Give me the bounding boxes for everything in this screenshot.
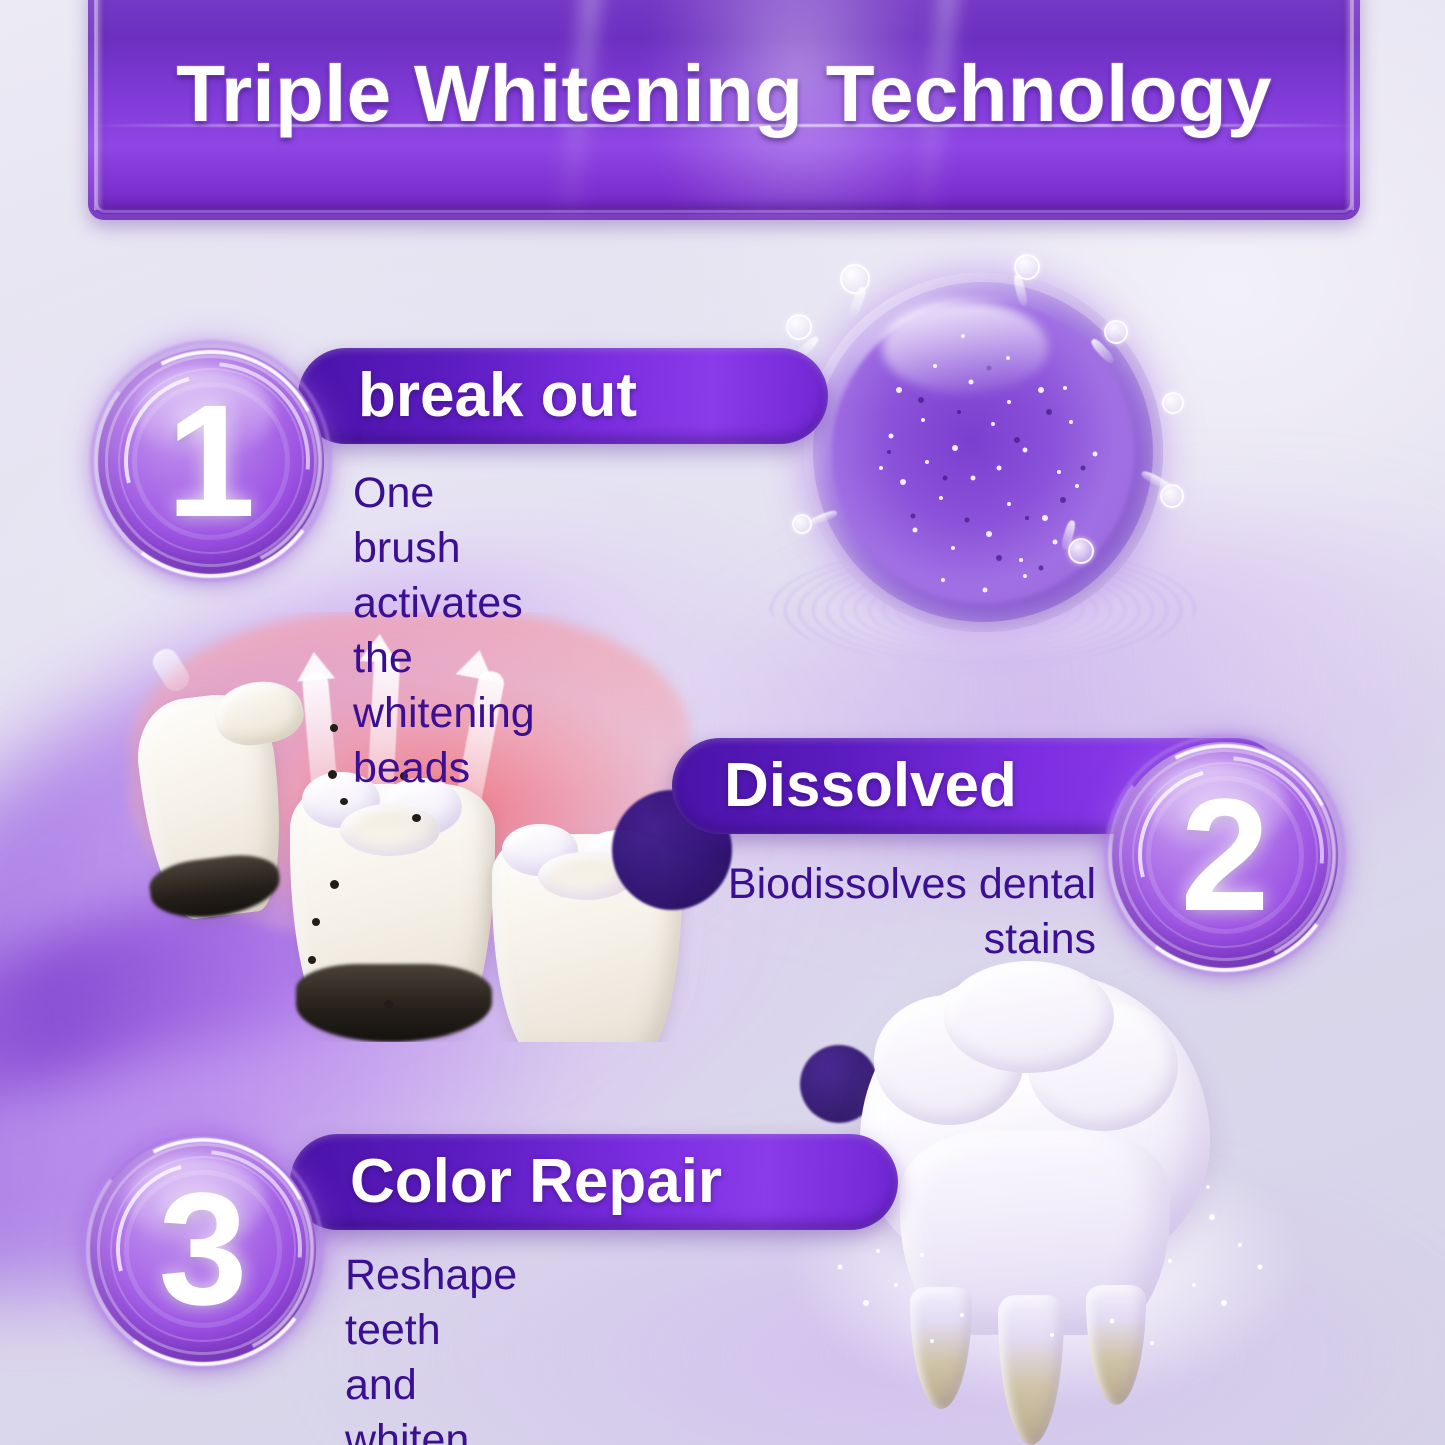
stain-spot: [412, 814, 421, 822]
stain-spot: [340, 798, 348, 805]
step-2-number-badge: 2: [1112, 742, 1338, 968]
tooth-cusp-top: [944, 961, 1114, 1073]
step-3-number: 3: [90, 1136, 316, 1362]
header-banner: Triple Whitening Technology: [88, 0, 1360, 220]
splash-droplet: [1104, 320, 1128, 344]
step-3-number-badge: 3: [90, 1136, 316, 1362]
tooth-center-fissure: [340, 804, 440, 856]
stain-spot: [328, 770, 337, 779]
splash-droplet: [786, 314, 812, 340]
stain-spot: [384, 1000, 393, 1009]
stain-spot: [308, 956, 316, 964]
splash-droplet: [1162, 392, 1184, 414]
step-2-number: 2: [1112, 742, 1338, 968]
step-2-label: Dissolved: [724, 755, 1017, 817]
step-3-label-pill: Color Repair: [290, 1134, 898, 1230]
step-3-description: Reshape teeth and whiten them: [345, 1248, 517, 1445]
stain-spot: [312, 918, 320, 926]
step-2-description: Biodissolves dental stains: [710, 857, 1096, 967]
splash-droplet: [1068, 538, 1094, 564]
tooth-root-center: [998, 1295, 1064, 1445]
page-title: Triple Whitening Technology: [88, 48, 1360, 140]
rising-arrow-head: [295, 650, 335, 681]
infographic-canvas: Triple Whitening Technology: [0, 0, 1445, 1445]
step-1-description: One brush activates the whitening beads: [353, 466, 535, 796]
step-1-number-badge: 1: [98, 348, 324, 574]
step-1-number: 1: [98, 348, 324, 574]
stain-spot: [330, 724, 338, 732]
step-3-label: Color Repair: [350, 1151, 722, 1213]
tooth-center-stain: [296, 964, 492, 1042]
bead-sphere-illustration: [768, 252, 1198, 682]
stain-spot: [330, 880, 339, 889]
step-1-label-pill: break out: [298, 348, 828, 444]
step-1-label: break out: [358, 365, 637, 427]
